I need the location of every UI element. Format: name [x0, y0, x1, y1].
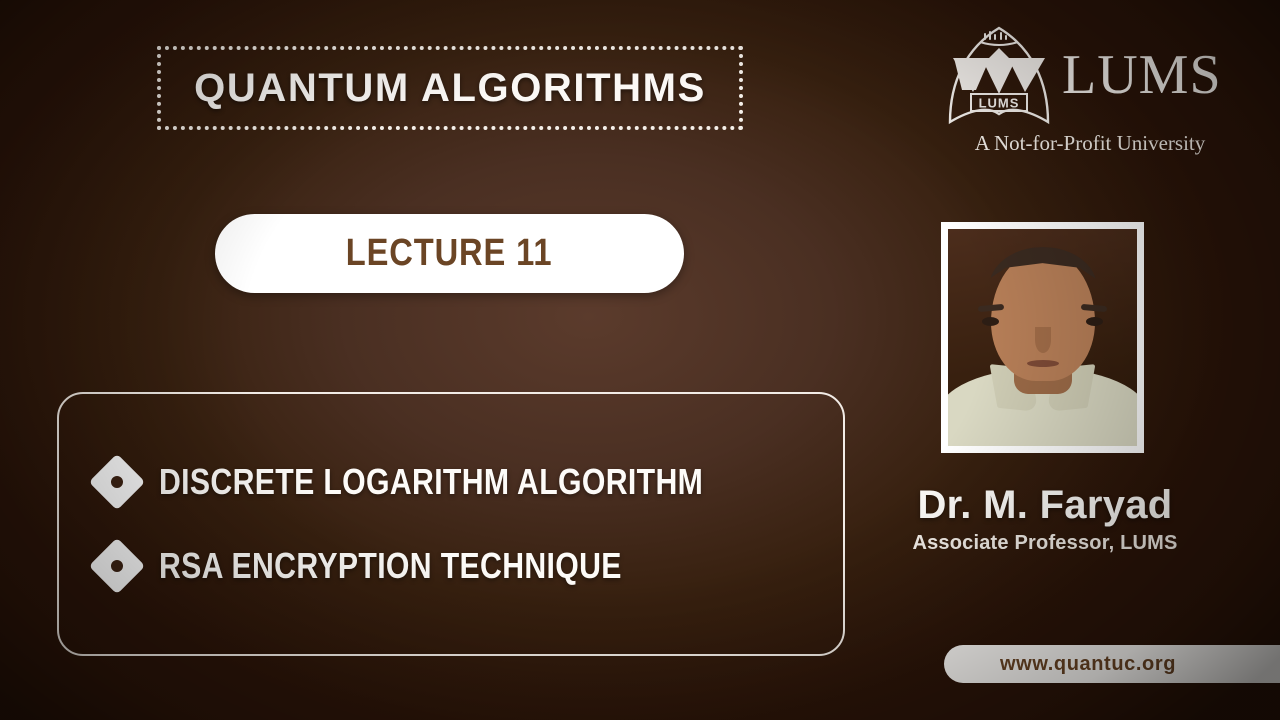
- lums-tagline: A Not-for-Profit University: [940, 131, 1240, 156]
- page-title: QUANTUM ALGORITHMS: [194, 66, 706, 111]
- slide-stage: QUANTUM ALGORITHMS LECTURE 11 DISCRETE L…: [0, 0, 1280, 720]
- lecture-badge: LECTURE 11: [215, 214, 684, 293]
- lums-crest-icon: LUMS: [940, 22, 1058, 127]
- svg-text:LUMS: LUMS: [979, 96, 1020, 111]
- presenter-name: Dr. M. Faryad: [900, 483, 1190, 528]
- topic-label: DISCRETE LOGARITHM ALGORITHM: [159, 461, 703, 503]
- diamond-bullet-icon: [89, 538, 146, 595]
- topic-label: RSA ENCRYPTION TECHNIQUE: [159, 545, 622, 587]
- list-item: DISCRETE LOGARITHM ALGORITHM: [97, 461, 843, 503]
- list-item: RSA ENCRYPTION TECHNIQUE: [97, 545, 843, 587]
- institution-logo: LUMS LUMS A Not-for-Profit University: [940, 22, 1260, 162]
- lecture-label: LECTURE 11: [346, 232, 553, 275]
- website-url[interactable]: www.quantuc.org: [1000, 653, 1176, 676]
- topics-card: DISCRETE LOGARITHM ALGORITHM RSA ENCRYPT…: [57, 392, 845, 656]
- course-title-frame: QUANTUM ALGORITHMS: [157, 46, 743, 130]
- logo-row: LUMS LUMS: [940, 22, 1260, 127]
- website-badge[interactable]: www.quantuc.org: [944, 645, 1280, 683]
- presenter-photo-frame: [941, 222, 1144, 453]
- presenter-portrait: [948, 229, 1137, 446]
- lums-wordmark: LUMS: [1062, 47, 1222, 103]
- diamond-bullet-icon: [89, 454, 146, 511]
- presenter-title: Associate Professor, LUMS: [900, 532, 1190, 555]
